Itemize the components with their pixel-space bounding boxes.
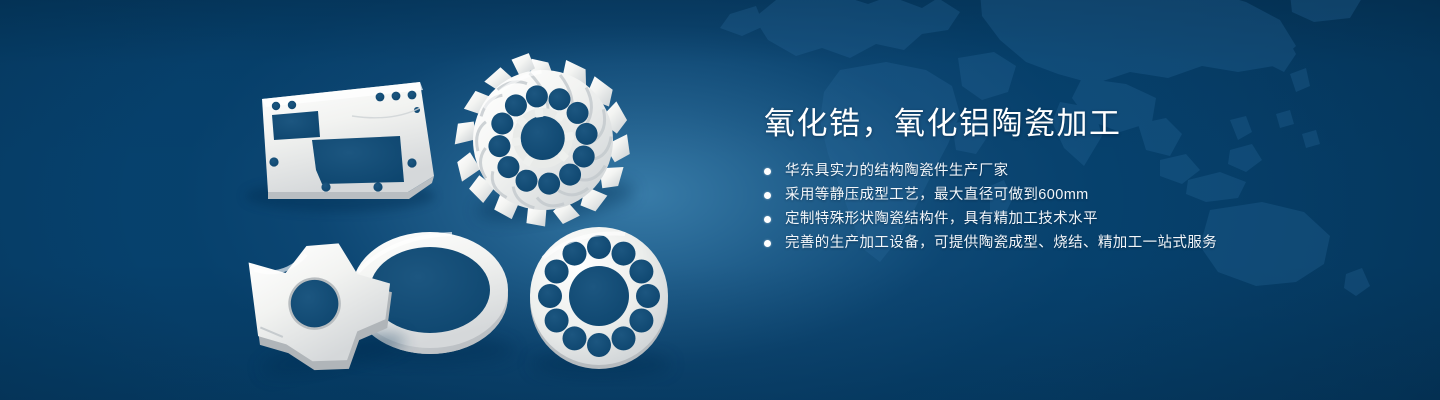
list-item-label: 华东具实力的结构陶瓷件生产厂家: [785, 160, 1009, 182]
list-item: 华东具实力的结构陶瓷件生产厂家: [764, 160, 1364, 182]
hero-banner: 氧化锆，氧化铝陶瓷加工 华东具实力的结构陶瓷件生产厂家 采用等静压成型工艺，最大…: [0, 0, 1440, 400]
list-item-label: 完善的生产加工设备，可提供陶瓷成型、烧结、精加工一站式服务: [785, 232, 1217, 254]
list-item-label: 采用等静压成型工艺，最大直径可做到600mm: [785, 184, 1089, 206]
machined-ceramic-plate: [245, 82, 435, 212]
bullet-dot-icon: [764, 216, 771, 223]
page-title: 氧化锆，氧化铝陶瓷加工: [764, 104, 1364, 144]
feature-list: 华东具实力的结构陶瓷件生产厂家 采用等静压成型工艺，最大直径可做到600mm 定…: [764, 160, 1364, 254]
ceramic-impeller: [444, 41, 641, 238]
banner-copy: 氧化锆，氧化铝陶瓷加工 华东具实力的结构陶瓷件生产厂家 采用等静压成型工艺，最大…: [764, 104, 1364, 256]
list-item: 定制特殊形状陶瓷结构件，具有精加工技术水平: [764, 208, 1364, 230]
list-item: 完善的生产加工设备，可提供陶瓷成型、烧结、精加工一站式服务: [764, 232, 1364, 254]
list-item: 采用等静压成型工艺，最大直径可做到600mm: [764, 184, 1364, 206]
bullet-dot-icon: [764, 192, 771, 199]
perforated-ceramic-disc: [530, 227, 671, 378]
list-item-label: 定制特殊形状陶瓷结构件，具有精加工技术水平: [785, 208, 1098, 230]
bullet-dot-icon: [764, 240, 771, 247]
bullet-dot-icon: [764, 168, 771, 175]
ceramic-products-photo: [0, 0, 730, 400]
